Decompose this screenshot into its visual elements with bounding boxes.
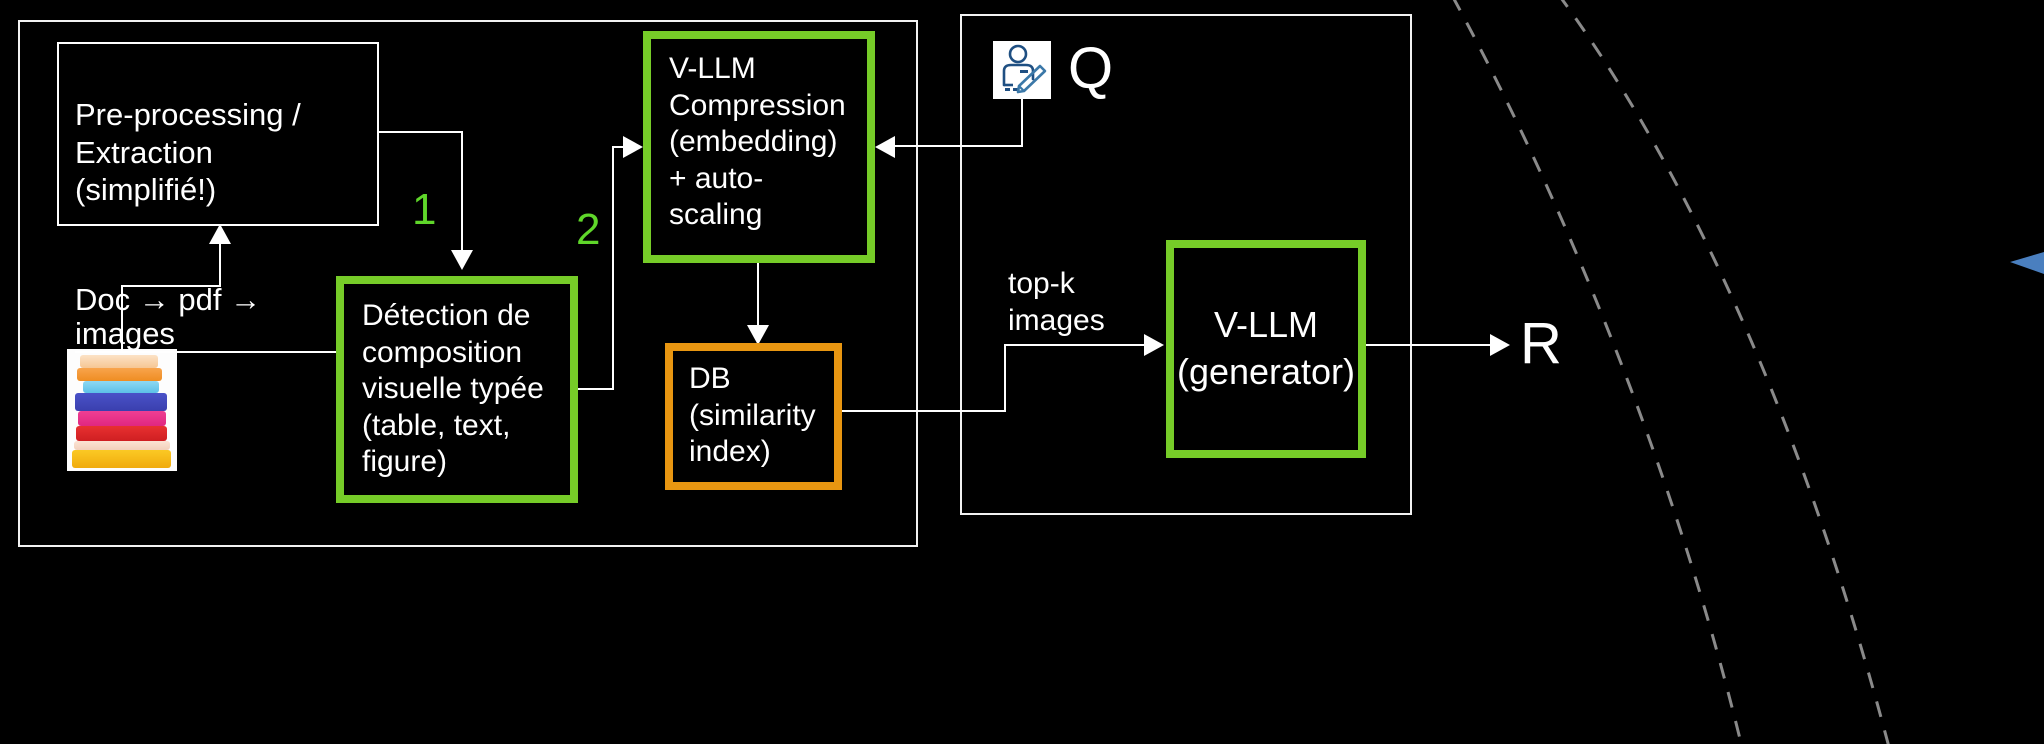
node-preprocessing-sublabel: Doc → pdf → images <box>75 283 361 353</box>
step1-arrowhead <box>451 250 473 270</box>
decorative-dashed-arcs <box>1380 0 2044 744</box>
db-to-generator-vertical <box>1004 345 1006 411</box>
node-detection[interactable]: Détection de composition visuelle typée … <box>336 276 578 503</box>
topk-images-label: top-k images <box>1008 266 1105 339</box>
node-detection-label: Détection de composition visuelle typée … <box>362 298 560 481</box>
node-database[interactable]: DB (similarity index) <box>665 343 842 490</box>
node-generator[interactable]: V-LLM (generator) <box>1166 240 1366 458</box>
generator-to-response-line <box>1366 344 1498 346</box>
node-preprocessing-label: Pre-processing / Extraction (simplifié!) <box>75 97 301 208</box>
step2-arrowhead <box>623 136 643 158</box>
step2-horizontal-bottom <box>578 388 614 390</box>
blue-marker-icon <box>2010 248 2044 288</box>
node-compression-label: V-LLM Compression (embedding) + auto- sc… <box>669 51 859 234</box>
query-to-compression-horizontal <box>895 145 1023 147</box>
node-preprocessing[interactable]: Pre-processing / Extraction (simplifié!)… <box>57 42 379 226</box>
query-to-compression-vertical <box>1021 99 1023 147</box>
generator-to-response-arrowhead <box>1490 334 1510 356</box>
query-symbol-label: Q <box>1068 40 1113 98</box>
step1-horizontal <box>379 131 463 133</box>
user-query-icon-tile <box>993 41 1051 99</box>
db-to-generator-arrowhead <box>1144 334 1164 356</box>
step2-vertical <box>612 147 614 390</box>
step-2-label: 2 <box>576 208 600 252</box>
step-1-label: 1 <box>412 188 436 232</box>
person-writing-icon <box>993 41 1051 99</box>
db-to-generator-horizontal-2 <box>1004 344 1146 346</box>
compression-to-db-line <box>757 263 759 325</box>
node-database-label: DB (similarity index) <box>689 361 826 471</box>
node-compression[interactable]: V-LLM Compression (embedding) + auto- sc… <box>643 31 875 263</box>
compression-to-db-arrowhead <box>747 325 769 345</box>
response-symbol-label: R <box>1520 315 1562 373</box>
query-to-compression-arrowhead <box>875 136 895 158</box>
db-to-generator-horizontal-1 <box>842 410 1006 412</box>
diagram-canvas: Pre-processing / Extraction (simplifié!)… <box>0 0 2044 744</box>
step1-vertical <box>461 131 463 250</box>
node-generator-label: V-LLM (generator) <box>1174 302 1358 396</box>
